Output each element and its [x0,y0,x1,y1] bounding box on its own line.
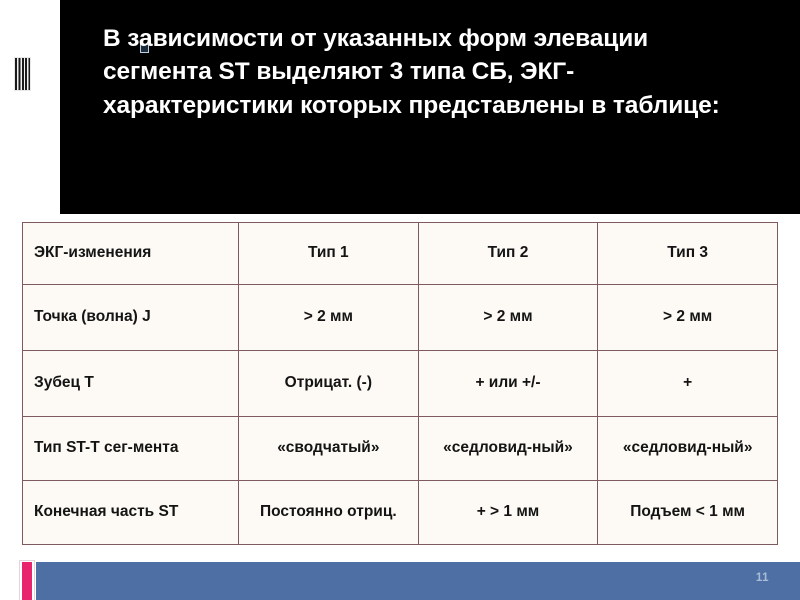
table-row: Конечная часть ST Постоянно отриц. + > 1… [23,481,778,545]
left-stripe-decoration [14,57,31,91]
column-header-type-2: Тип 2 [418,223,598,285]
table-header-row: ЭКГ-изменения Тип 1 Тип 2 Тип 3 [23,223,778,285]
row-value: «седловид-ный» [598,417,778,481]
row-value: Подъем < 1 мм [598,481,778,545]
column-header-type-1: Тип 1 [239,223,419,285]
row-value: > 2 мм [598,285,778,351]
title-panel: В зависимости от указанных форм элевации… [60,0,800,214]
column-header-ecg-changes: ЭКГ-изменения [23,223,239,285]
presentation-slide: В зависимости от указанных форм элевации… [0,0,800,600]
column-header-type-3: Тип 3 [598,223,778,285]
row-label: Конечная часть ST [23,481,239,545]
row-label: Точка (волна) J [23,285,239,351]
footer-accent-block [22,562,32,600]
ecg-types-table: ЭКГ-изменения Тип 1 Тип 2 Тип 3 Точка (в… [22,222,778,545]
row-label: Тип ST-T сег-мента [23,417,239,481]
row-value: + [598,351,778,417]
row-value: Отрицат. (-) [239,351,419,417]
row-value: + > 1 мм [418,481,598,545]
row-label: Зубец Т [23,351,239,417]
table-row: Зубец Т Отрицат. (-) + или +/- + [23,351,778,417]
row-value: > 2 мм [239,285,419,351]
table-row: Точка (волна) J > 2 мм > 2 мм > 2 мм [23,285,778,351]
page-number: 11 [756,572,769,584]
footer-bar [36,562,800,600]
slide-title: В зависимости от указанных форм элевации… [103,22,743,122]
row-value: > 2 мм [418,285,598,351]
table-row: Тип ST-T сег-мента «сводчатый» «седловид… [23,417,778,481]
row-value: + или +/- [418,351,598,417]
row-value: «седловид-ный» [418,417,598,481]
row-value: Постоянно отриц. [239,481,419,545]
row-value: «сводчатый» [239,417,419,481]
